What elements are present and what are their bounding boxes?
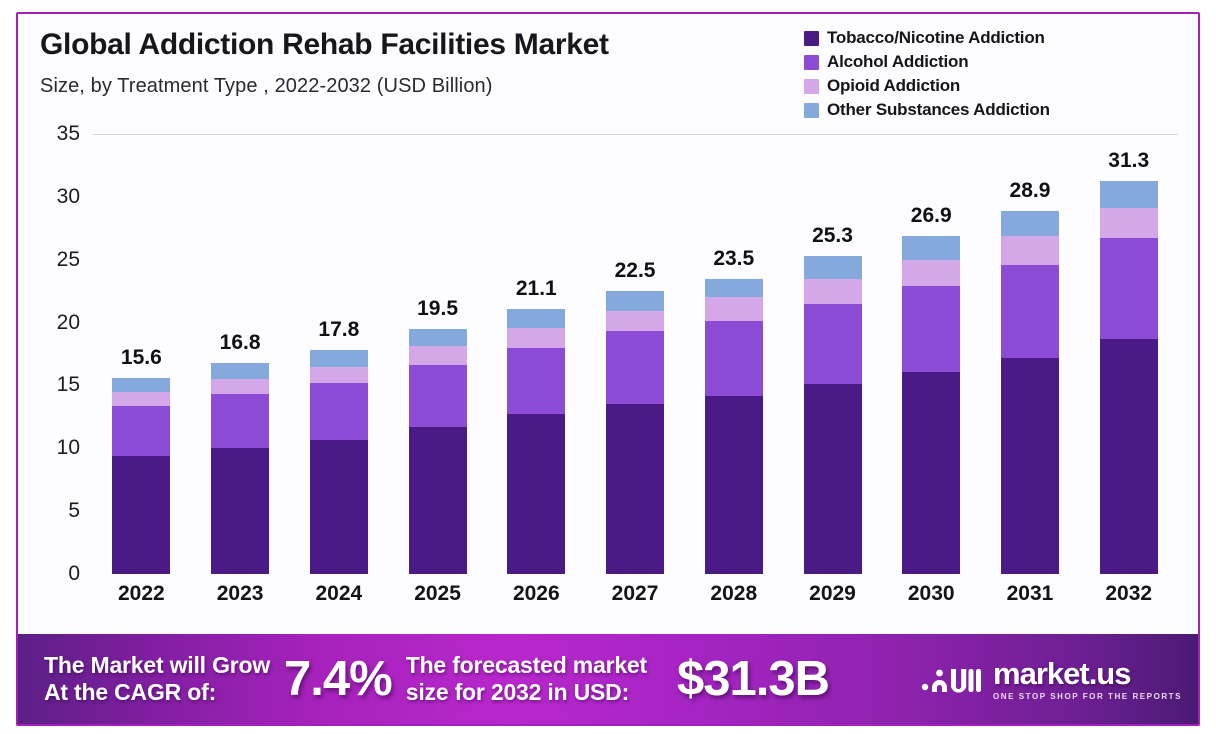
- bar-column[interactable]: 26.9: [882, 134, 981, 574]
- y-axis-tick: 20: [57, 311, 80, 335]
- forecast-label-line1: The forecasted market: [406, 652, 647, 679]
- bar-segment[interactable]: [112, 392, 170, 406]
- bar-segment[interactable]: [409, 329, 467, 347]
- bar-segment[interactable]: [1100, 339, 1158, 574]
- bar-segment[interactable]: [902, 260, 960, 286]
- bar-segment[interactable]: [606, 311, 664, 331]
- market-us-logo-icon: [921, 657, 983, 702]
- bar-column[interactable]: 23.5: [684, 134, 783, 574]
- bar-segment[interactable]: [1001, 358, 1059, 574]
- bar-segment[interactable]: [507, 328, 565, 348]
- x-axis: 2022202320242025202620272028202920302031…: [92, 582, 1178, 606]
- x-axis-tick: 2023: [191, 582, 290, 606]
- x-axis-tick: 2027: [586, 582, 685, 606]
- chart-header: Global Addiction Rehab Facilities Market…: [18, 14, 1198, 134]
- bar-segment[interactable]: [507, 309, 565, 328]
- brand-tagline: ONE STOP SHOP FOR THE REPORTS: [993, 692, 1182, 701]
- bar-segment[interactable]: [606, 404, 664, 574]
- brand-name: market.us: [993, 658, 1130, 689]
- legend-item-label: Other Substances Addiction: [827, 100, 1050, 120]
- bar-segment[interactable]: [902, 236, 960, 260]
- bar-stack[interactable]: 26.9: [902, 236, 960, 574]
- bar-total-label: 25.3: [812, 224, 853, 248]
- bar-stack[interactable]: 31.3: [1100, 181, 1158, 574]
- bar-stack[interactable]: 28.9: [1001, 211, 1059, 574]
- bar-stack[interactable]: 23.5: [705, 279, 763, 574]
- bar-segment[interactable]: [409, 365, 467, 427]
- bar-segment[interactable]: [112, 456, 170, 574]
- chart-card: Global Addiction Rehab Facilities Market…: [16, 12, 1200, 726]
- y-axis-tick: 10: [57, 436, 80, 460]
- bar-segment[interactable]: [507, 414, 565, 574]
- bar-segment[interactable]: [902, 286, 960, 371]
- x-axis-tick: 2032: [1079, 582, 1178, 606]
- bar-total-label: 26.9: [911, 204, 952, 228]
- bar-segment[interactable]: [211, 394, 269, 448]
- cagr-label-line1: The Market will Grow: [44, 652, 270, 679]
- bar-segment[interactable]: [705, 396, 763, 575]
- bar-segment[interactable]: [606, 331, 664, 404]
- bar-segment[interactable]: [409, 427, 467, 574]
- x-axis-tick: 2026: [487, 582, 586, 606]
- plot-area: 35302520151050 15.616.817.819.521.122.52…: [26, 134, 1184, 634]
- bar-total-label: 28.9: [1010, 179, 1051, 203]
- bar-segment[interactable]: [211, 363, 269, 379]
- legend-item-label: Tobacco/Nicotine Addiction: [827, 28, 1045, 48]
- legend-swatch-icon: [804, 103, 819, 118]
- y-axis-tick: 25: [57, 248, 80, 272]
- bar-segment[interactable]: [211, 379, 269, 394]
- bar-segment[interactable]: [705, 297, 763, 321]
- bar-total-label: 31.3: [1108, 149, 1149, 173]
- bar-segment[interactable]: [1001, 211, 1059, 236]
- bar-segment[interactable]: [310, 367, 368, 383]
- legend-swatch-icon: [804, 79, 819, 94]
- bar-total-label: 19.5: [417, 297, 458, 321]
- bar-segment[interactable]: [804, 256, 862, 279]
- bar-segment[interactable]: [507, 348, 565, 415]
- bar-total-label: 21.1: [516, 277, 557, 301]
- bar-segment[interactable]: [705, 279, 763, 298]
- legend-item[interactable]: Other Substances Addiction: [804, 100, 1050, 120]
- brand-logo[interactable]: market.us ONE STOP SHOP FOR THE REPORTS: [921, 657, 1182, 702]
- y-axis-tick: 15: [57, 373, 80, 397]
- x-axis-tick: 2025: [388, 582, 487, 606]
- cagr-label: The Market will Grow At the CAGR of:: [44, 652, 270, 706]
- y-axis: 35302520151050: [26, 134, 88, 574]
- y-axis-tick: 35: [57, 122, 80, 146]
- bar-column[interactable]: 22.5: [586, 134, 685, 574]
- bar-segment[interactable]: [310, 440, 368, 575]
- bar-segment[interactable]: [804, 384, 862, 574]
- bar-segment[interactable]: [705, 321, 763, 395]
- bar-segment[interactable]: [804, 279, 862, 304]
- x-axis-tick: 2030: [882, 582, 981, 606]
- bar-stack[interactable]: 25.3: [804, 256, 862, 574]
- legend-item-label: Alcohol Addiction: [827, 52, 968, 72]
- brand-words: market.us ONE STOP SHOP FOR THE REPORTS: [993, 658, 1182, 701]
- x-axis-tick: 2029: [783, 582, 882, 606]
- x-axis-tick: 2031: [981, 582, 1080, 606]
- y-axis-tick: 0: [68, 562, 80, 586]
- bar-stack[interactable]: 21.1: [507, 309, 565, 574]
- bar-column[interactable]: 19.5: [388, 134, 487, 574]
- y-axis-tick: 5: [68, 499, 80, 523]
- legend-item[interactable]: Alcohol Addiction: [804, 52, 1050, 72]
- legend-item[interactable]: Opioid Addiction: [804, 76, 1050, 96]
- cagr-value: 7.4%: [284, 651, 392, 707]
- bar-segment[interactable]: [1100, 181, 1158, 209]
- x-axis-tick: 2022: [92, 582, 191, 606]
- bar-segment[interactable]: [310, 350, 368, 366]
- cagr-label-line2: At the CAGR of:: [44, 679, 270, 706]
- footer-banner: The Market will Grow At the CAGR of: 7.4…: [18, 634, 1198, 724]
- bar-column[interactable]: 21.1: [487, 134, 586, 574]
- bar-total-label: 22.5: [615, 259, 656, 283]
- forecast-label: The forecasted market size for 2032 in U…: [406, 652, 647, 706]
- bar-segment[interactable]: [112, 378, 170, 392]
- bar-segment[interactable]: [112, 406, 170, 456]
- bar-column[interactable]: 31.3: [1079, 134, 1178, 574]
- bar-column[interactable]: 17.8: [289, 134, 388, 574]
- bar-group: 15.616.817.819.521.122.523.525.326.928.9…: [92, 134, 1178, 574]
- bar-segment[interactable]: [1001, 265, 1059, 358]
- bar-stack[interactable]: 17.8: [310, 350, 368, 574]
- bar-total-label: 23.5: [713, 247, 754, 271]
- forecast-label-line2: size for 2032 in USD:: [406, 679, 647, 706]
- legend-item[interactable]: Tobacco/Nicotine Addiction: [804, 28, 1050, 48]
- bar-stack[interactable]: 19.5: [409, 329, 467, 574]
- chart-legend: Tobacco/Nicotine AddictionAlcohol Addict…: [804, 28, 1050, 120]
- infographic-root: Global Addiction Rehab Facilities Market…: [0, 0, 1216, 734]
- bar-total-label: 17.8: [318, 318, 359, 342]
- bar-stack[interactable]: 15.6: [112, 378, 170, 574]
- legend-swatch-icon: [804, 31, 819, 46]
- bar-segment[interactable]: [1001, 236, 1059, 265]
- bar-column[interactable]: 15.6: [92, 134, 191, 574]
- bar-segment[interactable]: [804, 304, 862, 384]
- bar-column[interactable]: 25.3: [783, 134, 882, 574]
- forecast-value: $31.3B: [677, 651, 829, 707]
- bar-segment[interactable]: [409, 346, 467, 365]
- bar-column[interactable]: 28.9: [981, 134, 1080, 574]
- bar-segment[interactable]: [1100, 238, 1158, 339]
- x-axis-tick: 2028: [684, 582, 783, 606]
- bar-total-label: 15.6: [121, 346, 162, 370]
- bar-segment[interactable]: [1100, 208, 1158, 238]
- bar-segment[interactable]: [310, 383, 368, 440]
- bar-segment[interactable]: [606, 291, 664, 311]
- legend-swatch-icon: [804, 55, 819, 70]
- legend-item-label: Opioid Addiction: [827, 76, 960, 96]
- bar-total-label: 16.8: [220, 331, 261, 355]
- y-axis-tick: 30: [57, 185, 80, 209]
- bar-stack[interactable]: 16.8: [211, 363, 269, 574]
- x-axis-tick: 2024: [289, 582, 388, 606]
- bar-stack[interactable]: 22.5: [606, 291, 664, 574]
- bar-column[interactable]: 16.8: [191, 134, 290, 574]
- bar-segment[interactable]: [211, 448, 269, 574]
- bar-segment[interactable]: [902, 372, 960, 574]
